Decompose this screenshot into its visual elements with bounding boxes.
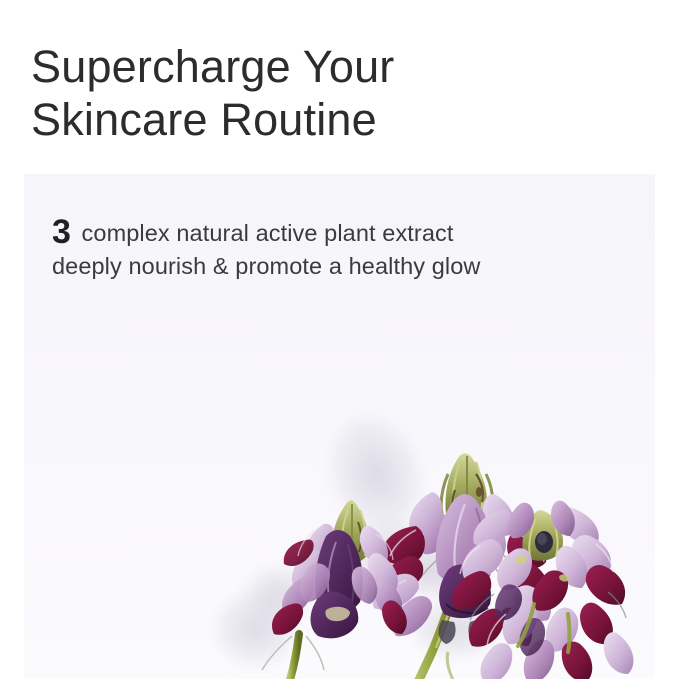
hero-image-panel: 3 complex natural active plant extract d…: [24, 174, 655, 679]
panel-copy: 3 complex natural active plant extract d…: [52, 216, 482, 283]
copy-body-text: complex natural active plant extract dee…: [52, 220, 480, 279]
highlight-number: 3: [52, 213, 75, 251]
page-title: Supercharge Your Skincare Routine: [31, 40, 631, 146]
page-root: Supercharge Your Skincare Routine: [0, 0, 679, 679]
